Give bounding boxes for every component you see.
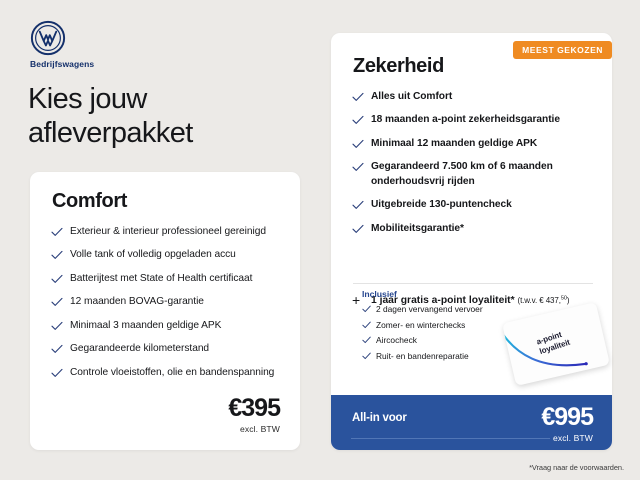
list-item-label: Batterijtest met State of Health certifi… [70, 273, 252, 284]
footnote: *Vraag naar de voorwaarden. [529, 463, 624, 472]
check-icon [352, 162, 364, 172]
list-item: Alles uit Comfort [352, 90, 600, 104]
list-item: Volle tank of volledig opgeladen accu [51, 248, 287, 262]
check-icon [352, 200, 364, 210]
list-item-label: Minimaal 12 maanden geldige APK [371, 138, 537, 149]
list-item: Mobiliteitsgarantie* [352, 222, 600, 236]
bonus-value-suffix: ) [567, 296, 570, 305]
list-item: Minimaal 3 maanden geldige APK [51, 319, 287, 333]
check-icon [51, 227, 63, 237]
list-item-label: Minimaal 3 maanden geldige APK [70, 320, 221, 331]
bonus-value: (t.w.v. € 437,50) [518, 296, 570, 305]
check-icon [51, 250, 63, 260]
list-item-label: Controle vloeistoffen, olie en bandenspa… [70, 367, 274, 378]
check-icon [352, 115, 364, 125]
check-icon [51, 274, 63, 284]
brand-block: Bedrijfswagens [30, 20, 150, 69]
check-icon [51, 297, 63, 307]
check-icon [352, 224, 364, 234]
list-item-label: 18 maanden a-point zekerheidsgarantie [371, 114, 560, 125]
list-item: 2 dagen vervangend vervoer [362, 304, 522, 315]
list-item: Batterijtest met State of Health certifi… [51, 272, 287, 286]
list-item: Zomer- en winterchecks [362, 320, 522, 331]
list-item-label: Ruit- en bandenreparatie [376, 351, 469, 361]
status-badge: MEEST GEKOZEN [513, 41, 612, 59]
inclusief-block: Inclusief 2 dagen vervangend vervoerZome… [362, 289, 522, 366]
zekerheid-feature-list: Alles uit Comfort18 maanden a-point zeke… [352, 90, 600, 245]
check-icon [51, 368, 63, 378]
list-item-label: Aircocheck [376, 335, 417, 345]
promo-page: Bedrijfswagens Kies jouw afleverpakket C… [0, 0, 640, 480]
check-icon [352, 139, 364, 149]
package-card-zekerheid[interactable]: MEEST GEKOZEN Zekerheid Alles uit Comfor… [331, 33, 612, 450]
zekerheid-price: €995 [541, 405, 593, 430]
list-item-label: 2 dagen vervangend vervoer [376, 304, 483, 314]
list-item: Exterieur & interieur professioneel gere… [51, 225, 287, 239]
check-icon [362, 305, 371, 313]
list-item-label: 12 maanden BOVAG-garantie [70, 296, 204, 307]
list-item-label: Exterieur & interieur professioneel gere… [70, 226, 266, 237]
list-item-label: Gegarandeerd 7.500 km of 6 maanden onder… [371, 161, 553, 186]
check-icon [362, 352, 371, 360]
list-item: 18 maanden a-point zekerheidsgarantie [352, 113, 600, 127]
list-item: 12 maanden BOVAG-garantie [51, 295, 287, 309]
comfort-price-note: excl. BTW [228, 424, 280, 434]
inclusief-list: 2 dagen vervangend vervoerZomer- en wint… [362, 304, 522, 361]
plus-icon: + [352, 293, 360, 307]
package-card-comfort[interactable]: Comfort Exterieur & interieur profession… [30, 172, 300, 450]
list-item: Controle vloeistoffen, olie en bandenspa… [51, 366, 287, 380]
price-footer-bar: All-in voor €995 excl. BTW [331, 395, 612, 450]
inclusief-title: Inclusief [362, 289, 522, 299]
check-icon [51, 344, 63, 354]
check-icon [362, 321, 371, 329]
list-item: Minimaal 12 maanden geldige APK [352, 137, 600, 151]
brand-name: Bedrijfswagens [30, 59, 150, 69]
page-title: Kies jouw afleverpakket [28, 82, 318, 150]
list-item-label: Volle tank of volledig opgeladen accu [70, 249, 236, 260]
allin-label: All-in voor [352, 412, 407, 424]
check-icon [352, 92, 364, 102]
list-item: Gegarandeerd 7.500 km of 6 maanden onder… [352, 160, 600, 189]
comfort-title: Comfort [52, 190, 127, 213]
list-item-label: Alles uit Comfort [371, 91, 452, 102]
vw-roundel-icon [30, 20, 66, 56]
comfort-feature-list: Exterieur & interieur professioneel gere… [51, 225, 287, 389]
check-icon [51, 321, 63, 331]
comfort-price-block: €395 excl. BTW [228, 396, 280, 434]
list-item: Gegarandeerde kilometerstand [51, 342, 287, 356]
list-item: Uitgebreide 130-puntencheck [352, 198, 600, 212]
divider [353, 283, 593, 284]
list-item-label: Zomer- en winterchecks [376, 320, 465, 330]
list-item-label: Gegarandeerde kilometerstand [70, 343, 209, 354]
list-item: Ruit- en bandenreparatie [362, 351, 522, 362]
footer-rule [351, 438, 550, 439]
list-item-label: Uitgebreide 130-puntencheck [371, 199, 512, 210]
zekerheid-title: Zekerheid [353, 55, 444, 78]
bonus-value-prefix: (t.w.v. € 437, [518, 296, 561, 305]
list-item-label: Mobiliteitsgarantie* [371, 223, 464, 234]
comfort-price: €395 [228, 396, 280, 421]
check-icon [362, 336, 371, 344]
list-item: Aircocheck [362, 335, 522, 346]
